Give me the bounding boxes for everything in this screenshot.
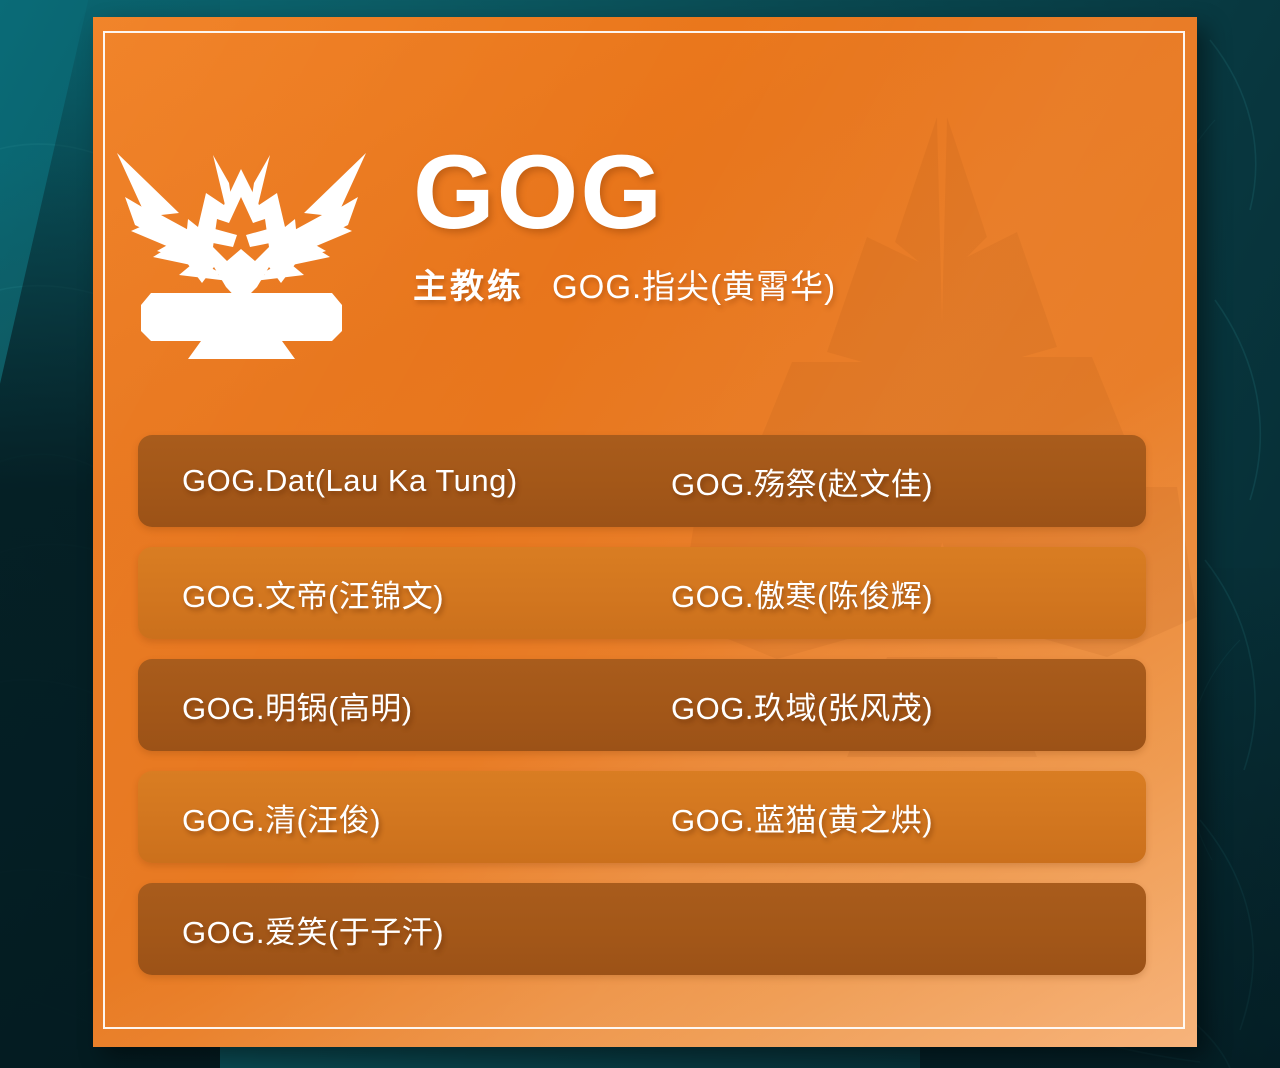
title-block: GOG 主教练 GOG.指尖(黄霄华) xyxy=(413,142,836,308)
player-name-left: GOG.Dat(Lau Ka Tung) xyxy=(182,463,518,499)
coach-label: 主教练 xyxy=(413,259,524,308)
ghost-owl-logo: GHOST OWL xyxy=(109,135,374,360)
player-name-right: GOG.殇祭(赵文佳) xyxy=(671,459,933,504)
poster-stage: GHOST OWL GOG 主教练 GOG.指尖(黄霄华) xyxy=(0,0,1280,1068)
player-name-right: GOG.蓝猫(黄之烘) xyxy=(671,795,933,840)
table-row: GOG.清(汪俊) GOG.蓝猫(黄之烘) xyxy=(138,771,1146,863)
player-name-left: GOG.清(汪俊) xyxy=(182,795,381,840)
roster-list: GOG.Dat(Lau Ka Tung) GOG.殇祭(赵文佳) GOG.文帝(… xyxy=(138,435,1146,995)
logo-wordmark: GHOST OWL xyxy=(147,301,336,331)
table-row: GOG.Dat(Lau Ka Tung) GOG.殇祭(赵文佳) xyxy=(138,435,1146,527)
player-name-left: GOG.爱笑(于子汗) xyxy=(182,907,444,952)
team-title: GOG xyxy=(413,142,836,245)
table-row: GOG.爱笑(于子汗) xyxy=(138,883,1146,975)
coach-row: 主教练 GOG.指尖(黄霄华) xyxy=(413,259,836,308)
team-card: GHOST OWL GOG 主教练 GOG.指尖(黄霄华) xyxy=(93,17,1197,1047)
player-name-right: GOG.傲寒(陈俊辉) xyxy=(671,571,933,616)
table-row: GOG.明锅(高明) GOG.玖域(张风茂) xyxy=(138,659,1146,751)
card-header: GHOST OWL GOG 主教练 GOG.指尖(黄霄华) xyxy=(93,17,1197,417)
player-name-left: GOG.明锅(高明) xyxy=(182,683,413,728)
player-name-right: GOG.玖域(张风茂) xyxy=(671,683,933,728)
ghost-owl-emblem-icon: GHOST OWL xyxy=(109,135,374,360)
coach-name: GOG.指尖(黄霄华) xyxy=(552,260,836,308)
table-row: GOG.文帝(汪锦文) GOG.傲寒(陈俊辉) xyxy=(138,547,1146,639)
player-name-left: GOG.文帝(汪锦文) xyxy=(182,571,444,616)
